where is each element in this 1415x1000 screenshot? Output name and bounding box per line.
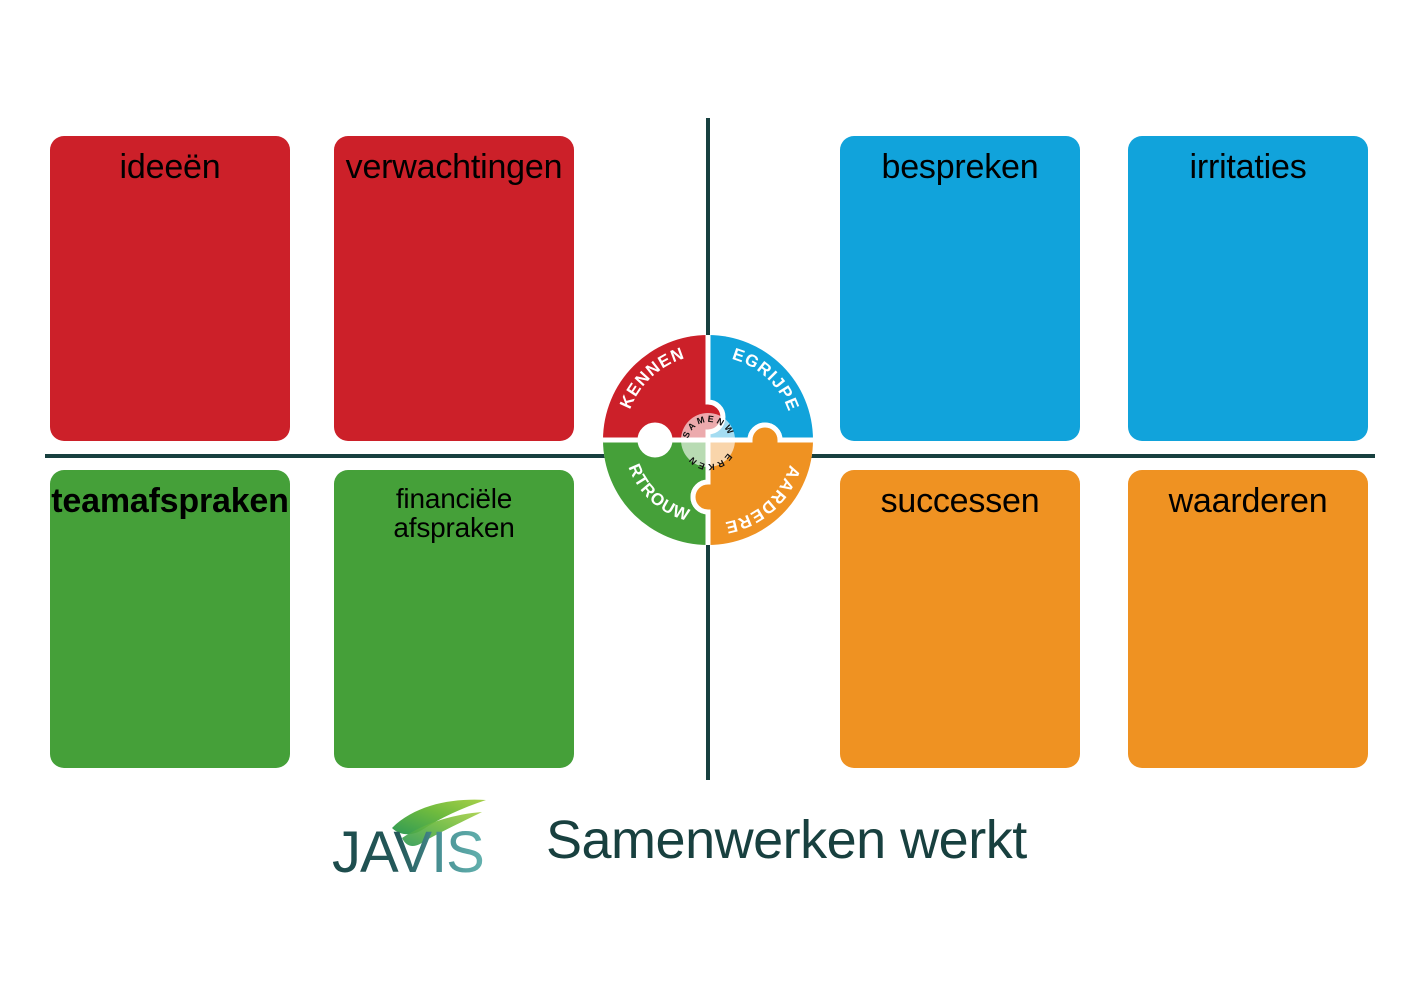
card-irritaties[interactable]: irritaties (1128, 136, 1368, 441)
puzzle-wheel-logo: KENNEN BEGRIJPEN VERTROUWEN WAARDEREN SA… (600, 332, 816, 548)
card-label: ideeën (50, 136, 290, 186)
card-waarderen[interactable]: waarderen (1128, 470, 1368, 768)
card-label: verwachtingen (334, 136, 574, 186)
card-label: financiële afspraken (334, 470, 574, 543)
card-label: waarderen (1128, 470, 1368, 520)
card-label: teamafspraken (50, 470, 290, 520)
diagram-canvas: ideeën verwachtingen bespreken irritatie… (0, 0, 1415, 1000)
card-successen[interactable]: successen (840, 470, 1080, 768)
card-label: irritaties (1128, 136, 1368, 186)
javis-wordmark: JAVIS (332, 820, 484, 882)
card-financiele-afspraken[interactable]: financiële afspraken (334, 470, 574, 768)
tagline: Samenwerken werkt (546, 809, 1027, 871)
javis-logo: JAVIS (330, 798, 498, 882)
card-ideeen[interactable]: ideeën (50, 136, 290, 441)
card-bespreken[interactable]: bespreken (840, 136, 1080, 441)
card-label: bespreken (840, 136, 1080, 186)
card-verwachtingen[interactable]: verwachtingen (334, 136, 574, 441)
card-label: successen (840, 470, 1080, 520)
card-teamafspraken[interactable]: teamafspraken (50, 470, 290, 768)
footer: JAVIS Samenwerken werkt (330, 795, 1070, 885)
